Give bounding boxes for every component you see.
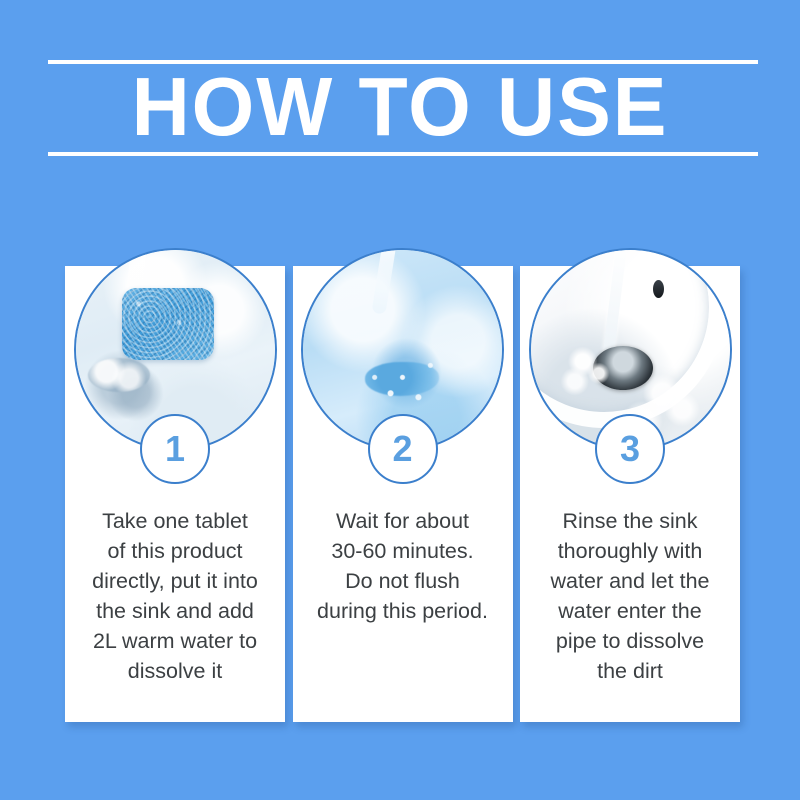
step-number-badge-2: 2 [368, 414, 438, 484]
step-card-1: 1 Take one tablet of this product direct… [65, 266, 285, 722]
title-divider-bottom [48, 152, 758, 156]
page-title: HOW TO USE [12, 64, 788, 150]
step-3-photo-wrap: 3 [529, 248, 732, 451]
step-3-description: Rinse the sink thoroughly with water and… [528, 506, 732, 686]
step-2-photo-wrap: 2 [301, 248, 504, 451]
step-number-2: 2 [392, 431, 412, 467]
step-number-badge-3: 3 [595, 414, 665, 484]
step-number-3: 3 [620, 431, 640, 467]
step-card-2: 2 Wait for about 30-60 minutes. Do not f… [293, 266, 513, 722]
step-1-description: Take one tablet of this product directly… [73, 506, 277, 686]
step-card-3: 3 Rinse the sink thoroughly with water a… [520, 266, 740, 722]
step-number-badge-1: 1 [140, 414, 210, 484]
header-block: HOW TO USE [0, 0, 800, 200]
step-2-description: Wait for about 30-60 minutes. Do not flu… [301, 506, 505, 626]
step-number-1: 1 [165, 431, 185, 467]
foam-decor [88, 358, 150, 392]
infographic-page: { "theme": { "background": "#5b9fee", "c… [0, 0, 800, 800]
step-1-photo-wrap: 1 [74, 248, 277, 451]
blue-tablet-icon [122, 288, 214, 360]
steps-container: 1 Take one tablet of this product direct… [65, 266, 740, 726]
